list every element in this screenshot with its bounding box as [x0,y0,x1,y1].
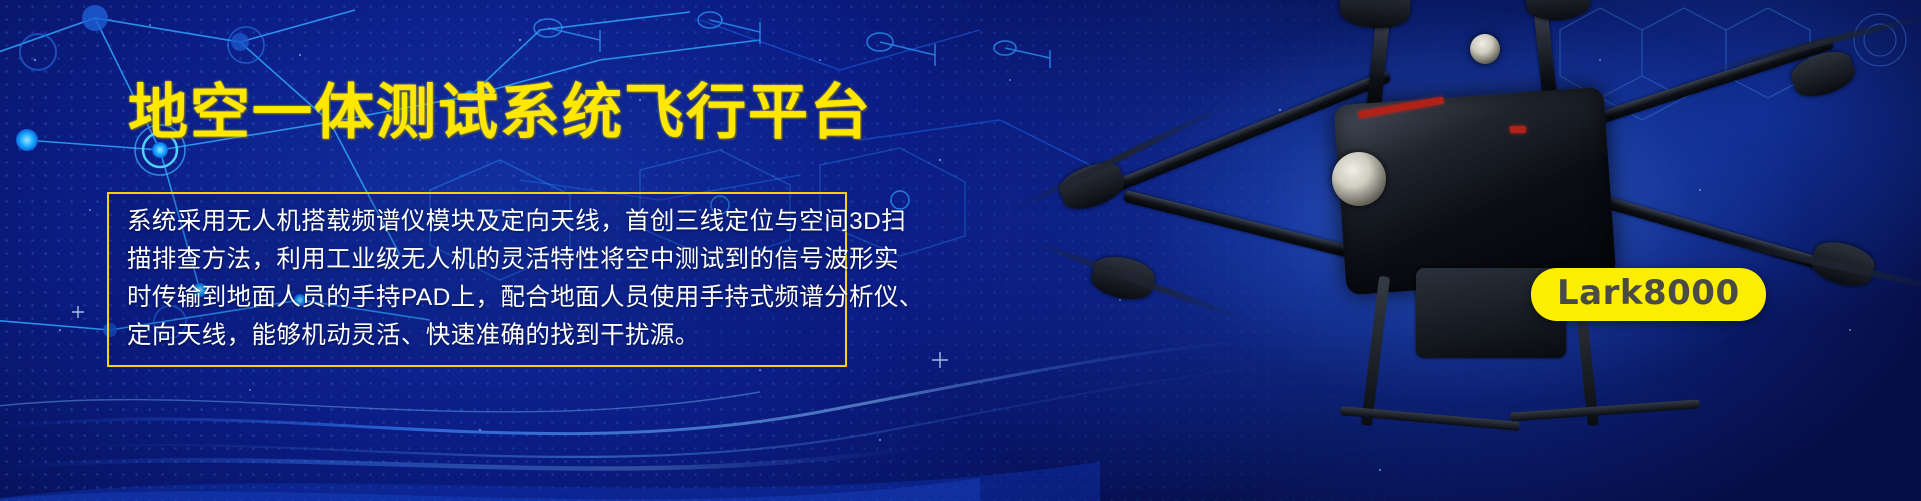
description-box: 系统采用无人机搭载频谱仪模块及定向天线，首创三线定位与空间3D扫 描排查方法，利… [107,192,847,367]
drone-image [1040,0,1921,446]
camera-lens [1332,152,1386,206]
description-line: 时传输到地面人员的手持PAD上，配合地面人员使用手持式频谱分析仪、 [127,279,829,317]
description-line: 系统采用无人机搭载频谱仪模块及定向天线，首创三线定位与空间3D扫 [127,203,829,241]
description-line: 描排查方法，利用工业级无人机的灵活特性将空中测试到的信号波形实 [127,241,829,279]
banner-content: 地空一体测试系统飞行平台 系统采用无人机搭载频谱仪模块及定向天线，首创三线定位与… [0,0,1000,501]
product-banner: 地空一体测试系统飞行平台 系统采用无人机搭载频谱仪模块及定向天线，首创三线定位与… [0,0,1921,501]
page-title: 地空一体测试系统飞行平台 [128,82,872,144]
product-model-badge: Lark8000 [1531,268,1766,321]
description-line: 定向天线，能够机动灵活、快速准确的找到干扰源。 [127,317,829,355]
